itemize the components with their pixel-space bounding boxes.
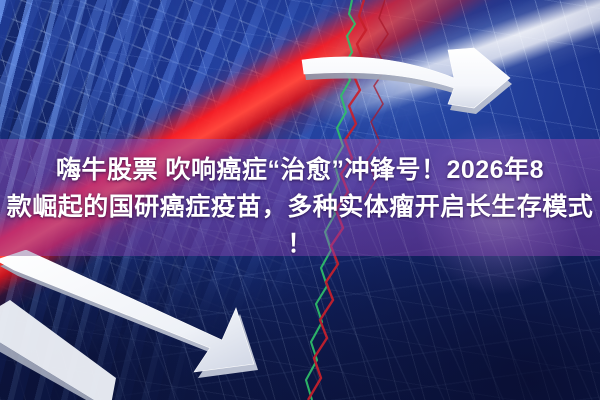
headline-line-2: 款崛起的国研癌症疫苗，多种实体瘤开启长生存模式: [0, 189, 600, 226]
arrow-right-shadow-face: [304, 56, 512, 114]
headline-line-1: 嗨牛股票 吹响癌症“治愈”冲锋号！2026年8: [0, 152, 600, 189]
headline-text-block: 嗨牛股票 吹响癌症“治愈”冲锋号！2026年8 款崛起的国研癌症疫苗，多种实体瘤…: [0, 152, 600, 263]
arrow-down-top-face: [0, 250, 254, 372]
headline-line-3: ！: [0, 226, 600, 263]
arrow-down-right-secondary-icon: [0, 300, 116, 400]
arrow-right-3d-icon: [300, 18, 560, 138]
arrow-secondary-shadow-face: [0, 334, 110, 400]
arrow-secondary-top-face: [0, 300, 116, 400]
arrow-down-shadow-face: [0, 256, 258, 378]
arrow-down-right-3d-icon: [0, 250, 320, 400]
banner-image: 嗨牛股票 吹响癌症“治愈”冲锋号！2026年8 款崛起的国研癌症疫苗，多种实体瘤…: [0, 0, 600, 400]
arrow-right-top-face: [302, 48, 510, 108]
